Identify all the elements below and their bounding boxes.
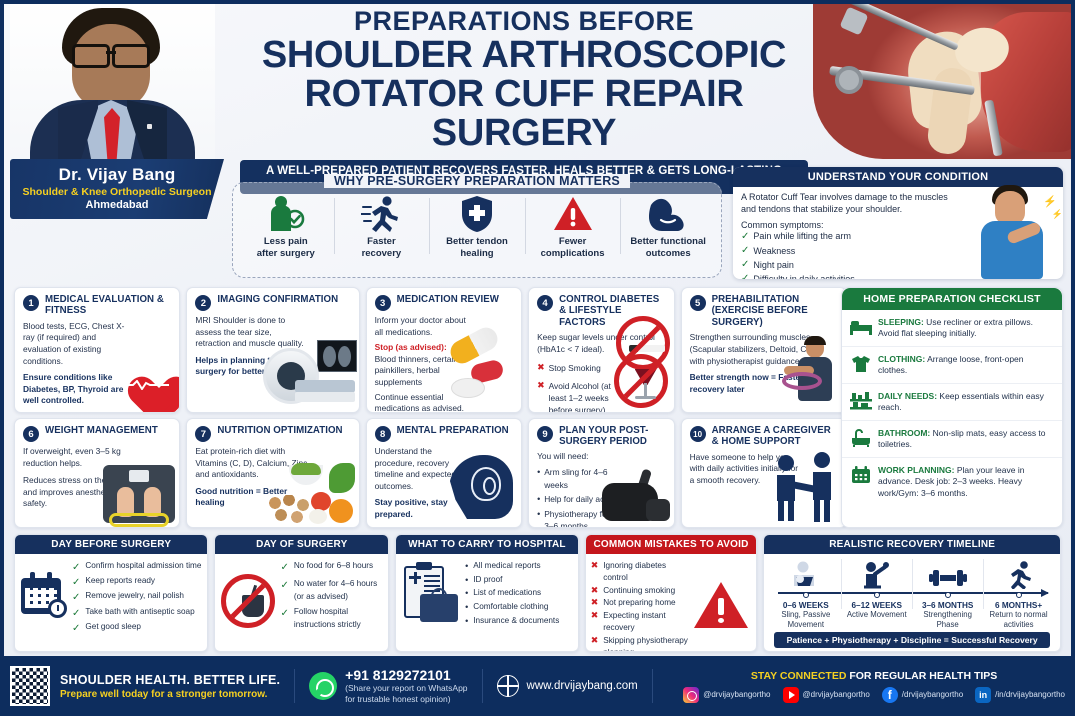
step-card-3: 3 MEDICATION REVIEW Inform your doctor a… <box>366 287 522 413</box>
tshirt-icon <box>850 354 872 374</box>
step-title: NUTRITION OPTIMIZATION <box>217 425 342 436</box>
home-checklist-title: HOME PREPARATION CHECKLIST <box>842 288 1062 310</box>
benefit-label: Faster <box>336 236 428 248</box>
checklist-item-work-planning: WORK PLANNING: Plan your leave in advanc… <box>842 458 1062 505</box>
recovery-timeline-panel: REALISTIC RECOVERY TIMELINE 0–6 WEEKS Sl… <box>763 534 1061 652</box>
poster-header: Dr. Vijay Bang Shoulder & Knee Orthopedi… <box>4 4 1071 162</box>
step-title: PREHABILITATION (EXERCISE BEFORE SURGERY… <box>712 294 838 328</box>
list-item: ✖Skipping physiotherapy planning <box>591 635 690 652</box>
title-line-1: PREPARATIONS BEFORE <box>219 8 829 35</box>
list-item: ✓Confirm hospital admission time <box>72 560 201 575</box>
footer-phone-note-1: (Share your report on WhatsApp <box>345 683 467 694</box>
step-number: 10 <box>690 426 706 442</box>
benefit-item-tendon-healing: Better tendon healing <box>429 192 525 260</box>
step-title: WEIGHT MANAGEMENT <box>45 425 158 436</box>
running-person-icon <box>984 559 1053 589</box>
item-text: Not preparing home <box>603 597 675 609</box>
item-text: Continuing smoking <box>603 585 675 597</box>
item-text: Remove jewelry, nail polish <box>85 590 184 602</box>
item-text: Follow hospital instructions strictly <box>294 606 382 631</box>
social-youtube[interactable]: @drvijaybangortho <box>783 687 870 703</box>
stay-connected-heading: STAY CONNECTED FOR REGULAR HEALTH TIPS <box>683 670 1065 682</box>
no-alcohol-icon <box>614 354 668 408</box>
checklist-label: WORK PLANNING: <box>878 465 955 475</box>
condition-paragraph: A Rotator Cuff Tear involves damage to t… <box>741 192 956 216</box>
weight-scale-icon <box>103 465 175 523</box>
checklist-text: WORK PLANNING: Plan your leave in advanc… <box>878 465 1054 499</box>
item-text: All medical reports <box>473 560 540 572</box>
item-text: No water for 4–6 hours (or as advised) <box>294 578 382 603</box>
list-item: •List of medications <box>465 587 572 601</box>
checklist-item-daily-needs: DAILY NEEDS: Keep essentials within easy… <box>842 384 1062 421</box>
check-circle-icon: ✓ <box>72 560 80 575</box>
timeline-stage-1: 0–6 WEEKS Sling, Passive Movement <box>770 559 841 630</box>
doctor-name-plate: Dr. Vijay Bang Shoulder & Knee Orthopedi… <box>10 159 224 219</box>
panel-title: COMMON MISTAKES TO AVOID <box>586 535 757 554</box>
list-item: ✓Take bath with antiseptic soap <box>72 606 201 621</box>
social-facebook[interactable]: f/drvijaybangortho <box>882 687 963 703</box>
preparation-steps-grid: 1 MEDICAL EVALUATION & FITNESS Blood tes… <box>14 287 847 528</box>
checklist-text: DAILY NEEDS: Keep essentials within easy… <box>878 391 1054 414</box>
arm-sling-icon <box>598 469 672 525</box>
checklist-label: BATHROOM: <box>878 428 930 438</box>
mri-machine-icon <box>261 340 357 410</box>
checklist-item-clothing: CLOTHING: Arrange loose, front-open clot… <box>842 347 1062 384</box>
item-text: Get good sleep <box>85 621 141 633</box>
list-item: ✓No water for 4–6 hours (or as advised) <box>280 578 382 603</box>
step-title: MENTAL PREPARATION <box>397 425 509 436</box>
active-movement-icon <box>842 559 911 589</box>
list-item: •Insurance & documents <box>465 615 572 629</box>
list-item: ✖Ignoring diabetes control <box>591 560 690 585</box>
list-item: ✓Remove jewelry, nail polish <box>72 590 201 605</box>
pills-icon <box>445 330 517 404</box>
social-handle: @drvijaybangortho <box>703 690 770 699</box>
check-circle-icon: ✓ <box>280 578 288 593</box>
item-text: Confirm hospital admission time <box>85 560 201 572</box>
checklist-text: SLEEPING: Use recliner or extra pillows.… <box>878 317 1054 340</box>
social-instagram[interactable]: @drvijaybangortho <box>683 687 770 703</box>
social-handle: /drvijaybangortho <box>902 690 963 699</box>
symptom-text: Night pain <box>753 259 794 272</box>
cross-circle-icon: ✖ <box>591 610 599 621</box>
panel-title: DAY OF SURGERY <box>215 535 388 554</box>
check-circle-icon: ✓ <box>741 258 749 272</box>
warning-triangle-icon <box>527 192 619 236</box>
home-preparation-checklist: HOME PREPARATION CHECKLIST SLEEPING: Use… <box>841 287 1063 528</box>
list-item: ✓No food for 6–8 hours <box>280 560 382 575</box>
social-linkedin[interactable]: in/in/drvijaybangortho <box>975 687 1065 703</box>
stay-connected-highlight: STAY CONNECTED <box>751 670 847 682</box>
flexed-bicep-icon <box>622 192 714 236</box>
benefit-item-functional-outcomes: Better functional outcomes <box>620 192 716 260</box>
bed-icon <box>850 317 872 337</box>
item-text: Keep reports ready <box>85 575 155 587</box>
person-check-icon <box>240 192 332 236</box>
item-text: Skipping physiotherapy planning <box>603 635 689 652</box>
poster-sheet: Dr. Vijay Bang Shoulder & Knee Orthopedi… <box>4 4 1071 656</box>
step-body: You will need: <box>537 451 666 463</box>
cross-circle-icon: ✖ <box>537 380 545 391</box>
benefit-label-2: healing <box>431 248 523 260</box>
step-number: 8 <box>375 426 391 442</box>
stage-period: 6–12 WEEKS <box>842 601 911 610</box>
globe-icon <box>497 675 519 697</box>
step-number: 2 <box>195 295 211 311</box>
item-text: Take bath with antiseptic soap <box>85 606 194 618</box>
timeline-stage-4: 6 MONTHS+ Return to normal activities <box>983 559 1054 630</box>
social-handle: @drvijaybangortho <box>803 690 870 699</box>
step-title: MEDICAL EVALUATION & FITNESS <box>45 294 171 317</box>
checklist-label: DAILY NEEDS: <box>878 391 937 401</box>
what-to-carry-panel: WHAT TO CARRY TO HOSPITAL •All medical r… <box>395 534 579 652</box>
doctor-specialty: Shoulder & Knee Orthopedic Surgeon <box>20 186 214 198</box>
timeline-stage-3: 3–6 MONTHS Strengthening Phase <box>912 559 983 630</box>
step-number: 5 <box>690 295 706 311</box>
stage-period: 3–6 MONTHS <box>913 601 982 610</box>
doctor-name: Dr. Vijay Bang <box>20 165 214 185</box>
list-item: •Comfortable clothing <box>465 601 572 615</box>
check-circle-icon: ✓ <box>72 575 80 590</box>
doctor-city: Ahmedabad <box>20 199 214 211</box>
list-item: ✓Keep reports ready <box>72 575 201 590</box>
stage-desc: Active Movement <box>842 610 911 620</box>
checklist-item-bathroom: BATHROOM: Non-slip mats, easy access to … <box>842 421 1062 458</box>
day-before-surgery-panel: DAY BEFORE SURGERY ✓Confirm hospital adm… <box>14 534 208 652</box>
checklist-text: CLOTHING: Arrange loose, front-open clot… <box>878 354 1054 377</box>
symptom-text: Difficulty in daily activities <box>753 273 854 279</box>
symptom-text: Pain while lifting the arm <box>753 230 851 243</box>
whatsapp-icon[interactable] <box>309 672 337 700</box>
step-card-10: 10 ARRANGE A CAREGIVER & HOME SUPPORT Ha… <box>681 418 847 528</box>
shoulder-arthroscopy-illustration <box>813 4 1071 159</box>
stage-desc: Return to normal activities <box>984 610 1053 630</box>
shelf-icon <box>850 391 872 411</box>
step-number: 6 <box>23 426 39 442</box>
doctor-photo <box>10 4 215 175</box>
symptom-text: Weakness <box>753 245 795 258</box>
timeline-stage-2: 6–12 WEEKS Active Movement <box>841 559 912 630</box>
cross-circle-icon: ✖ <box>591 560 599 571</box>
healthy-food-icon <box>265 463 357 525</box>
heart-ecg-icon <box>117 354 173 404</box>
title-line-2: SHOULDER ARTHROSCOPIC <box>219 36 829 75</box>
bottom-panels-row: DAY BEFORE SURGERY ✓Confirm hospital adm… <box>14 534 1061 652</box>
list-item: ✖Not preparing home <box>591 597 690 609</box>
check-circle-icon: ✓ <box>741 244 749 258</box>
handshake-support-icon <box>766 449 844 527</box>
shield-cross-icon <box>431 192 523 236</box>
infographic-poster: Dr. Vijay Bang Shoulder & Knee Orthopedi… <box>0 0 1075 716</box>
step-number: 4 <box>537 295 553 311</box>
instagram-icon[interactable] <box>683 687 699 703</box>
step-card-7: 7 NUTRITION OPTIMIZATION Eat protein-ric… <box>186 418 359 528</box>
stay-connected-rest: FOR REGULAR HEALTH TIPS <box>846 670 997 682</box>
qr-code-icon[interactable] <box>10 666 50 706</box>
step-card-8: 8 MENTAL PREPARATION Understand the proc… <box>366 418 522 528</box>
dumbbell-icon <box>913 559 982 589</box>
footer-tagline: Prepare well today for a stronger tomorr… <box>60 689 280 700</box>
cross-circle-icon: ✖ <box>591 585 599 596</box>
benefit-label-2: complications <box>527 248 619 260</box>
shoulder-pain-person-illustration: ⚡ ⚡ <box>967 169 1059 279</box>
step-title: MEDICATION REVIEW <box>397 294 499 305</box>
linkedin-icon[interactable]: in <box>975 687 991 703</box>
check-circle-icon: ✓ <box>72 606 80 621</box>
check-circle-icon: ✓ <box>72 621 80 636</box>
item-text: No food for 6–8 hours <box>294 560 373 572</box>
sling-person-icon <box>771 559 840 589</box>
step-title: ARRANGE A CAREGIVER & HOME SUPPORT <box>712 425 838 448</box>
checklist-text: BATHROOM: Non-slip mats, easy access to … <box>878 428 1054 451</box>
warning-triangle-icon <box>694 582 750 632</box>
day-of-surgery-panel: DAY OF SURGERY ✓No food for 6–8 hours ✓N… <box>214 534 389 652</box>
checklist-label: SLEEPING: <box>878 317 924 327</box>
panel-title: WHAT TO CARRY TO HOSPITAL <box>396 535 578 554</box>
footer-website[interactable]: www.drvijaybang.com <box>527 680 638 692</box>
step-card-1: 1 MEDICAL EVALUATION & FITNESS Blood tes… <box>14 287 180 413</box>
item-text: List of medications <box>473 587 541 599</box>
item-text: Insurance & documents <box>473 615 559 627</box>
step-number: 3 <box>375 295 391 311</box>
step-card-5: 5 PREHABILITATION (EXERCISE BEFORE SURGE… <box>681 287 847 413</box>
eyeglasses-icon <box>70 44 152 62</box>
step-bullet: Stop Smoking <box>549 362 601 374</box>
item-text: Comfortable clothing <box>473 601 548 613</box>
cross-circle-icon: ✖ <box>591 635 599 646</box>
check-circle-icon: ✓ <box>741 230 749 244</box>
list-item: ✖Expecting instant recovery <box>591 610 690 635</box>
brain-lotus-icon <box>445 453 517 523</box>
why-section-title: WHY PRE-SURGERY PREPARATION MATTERS <box>324 174 630 188</box>
stage-desc: Strengthening Phase <box>913 610 982 630</box>
panel-title: REALISTIC RECOVERY TIMELINE <box>764 535 1060 554</box>
list-item: ✖Continuing smoking <box>591 585 690 597</box>
step-number: 7 <box>195 426 211 442</box>
stage-desc: Sling, Passive Movement <box>771 610 840 630</box>
footer-phone[interactable]: +91 8129272101 <box>345 667 467 683</box>
resistance-band-exercise-icon <box>782 336 844 412</box>
stage-period: 0–6 WEEKS <box>771 601 840 610</box>
step-title: PLAN YOUR POST-SURGERY PERIOD <box>559 425 666 448</box>
benefit-label-2: recovery <box>336 248 428 260</box>
clipboard-bag-icon <box>402 564 460 628</box>
title-line-3: ROTATOR CUFF REPAIR SURGERY <box>219 75 829 153</box>
timeline-footer: Patience + Physiotherapy + Discipline = … <box>774 632 1050 648</box>
running-person-icon <box>336 192 428 236</box>
step-card-4: 4 CONTROL DIABETES & LIFESTYLE FACTORS K… <box>528 287 675 413</box>
cross-circle-icon: ✖ <box>591 597 599 608</box>
list-item: ✓Follow hospital instructions strictly <box>280 606 382 631</box>
footer-phone-note-2: for trustable honest opinion) <box>345 694 467 705</box>
benefit-label-2: outcomes <box>622 248 714 260</box>
calendar-clock-icon <box>21 572 67 618</box>
step-number: 1 <box>23 295 39 311</box>
benefit-label: Better functional <box>622 236 714 248</box>
understand-condition-panel: UNDERSTAND YOUR CONDITION A Rotator Cuff… <box>733 167 1063 279</box>
step-card-6: 6 WEIGHT MANAGEMENT If overweight, even … <box>14 418 180 528</box>
step-title: IMAGING CONFIRMATION <box>217 294 338 305</box>
item-text: Ignoring diabetes control <box>603 560 689 585</box>
social-handle: /in/drvijaybangortho <box>995 690 1065 699</box>
checklist-label: CLOTHING: <box>878 354 925 364</box>
benefit-item-less-pain: Less pain after surgery <box>238 192 334 260</box>
poster-footer: SHOULDER HEALTH. BETTER LIFE. Prepare we… <box>0 656 1075 716</box>
list-item: •ID proof <box>465 574 572 588</box>
stage-period: 6 MONTHS+ <box>984 601 1053 610</box>
benefit-label: Better tendon <box>431 236 523 248</box>
benefit-label: Less pain <box>240 236 332 248</box>
item-text: Expecting instant recovery <box>603 610 689 635</box>
check-circle-icon: ✓ <box>280 606 288 621</box>
benefit-item-faster-recovery: Faster recovery <box>334 192 430 260</box>
bathtub-icon <box>850 428 872 448</box>
no-food-drink-icon <box>221 574 275 628</box>
youtube-icon[interactable] <box>783 687 799 703</box>
check-circle-icon: ✓ <box>280 560 288 575</box>
why-preparation-section: WHY PRE-SURGERY PREPARATION MATTERS Less… <box>232 174 722 278</box>
facebook-icon[interactable]: f <box>882 687 898 703</box>
common-mistakes-panel: COMMON MISTAKES TO AVOID ✖Ignoring diabe… <box>585 534 758 652</box>
step-card-9: 9 PLAN YOUR POST-SURGERY PERIOD You will… <box>528 418 675 528</box>
benefit-label: Fewer <box>527 236 619 248</box>
step-number: 9 <box>537 426 553 442</box>
benefit-label-2: after surgery <box>240 248 332 260</box>
step-card-2: 2 IMAGING CONFIRMATION MRI Shoulder is d… <box>186 287 359 413</box>
check-circle-icon: ✓ <box>72 590 80 605</box>
cross-circle-icon: ✖ <box>537 362 545 373</box>
checklist-item-sleeping: SLEEPING: Use recliner or extra pillows.… <box>842 310 1062 347</box>
footer-slogan: SHOULDER HEALTH. BETTER LIFE. <box>60 673 280 687</box>
check-circle-icon: ✓ <box>741 272 749 279</box>
panel-title: DAY BEFORE SURGERY <box>15 535 207 554</box>
list-item: •All medical reports <box>465 560 572 574</box>
benefit-item-fewer-complications: Fewer complications <box>525 192 621 260</box>
item-text: ID proof <box>473 574 502 586</box>
list-item: ✓Get good sleep <box>72 621 201 636</box>
calendar-icon <box>850 465 872 485</box>
